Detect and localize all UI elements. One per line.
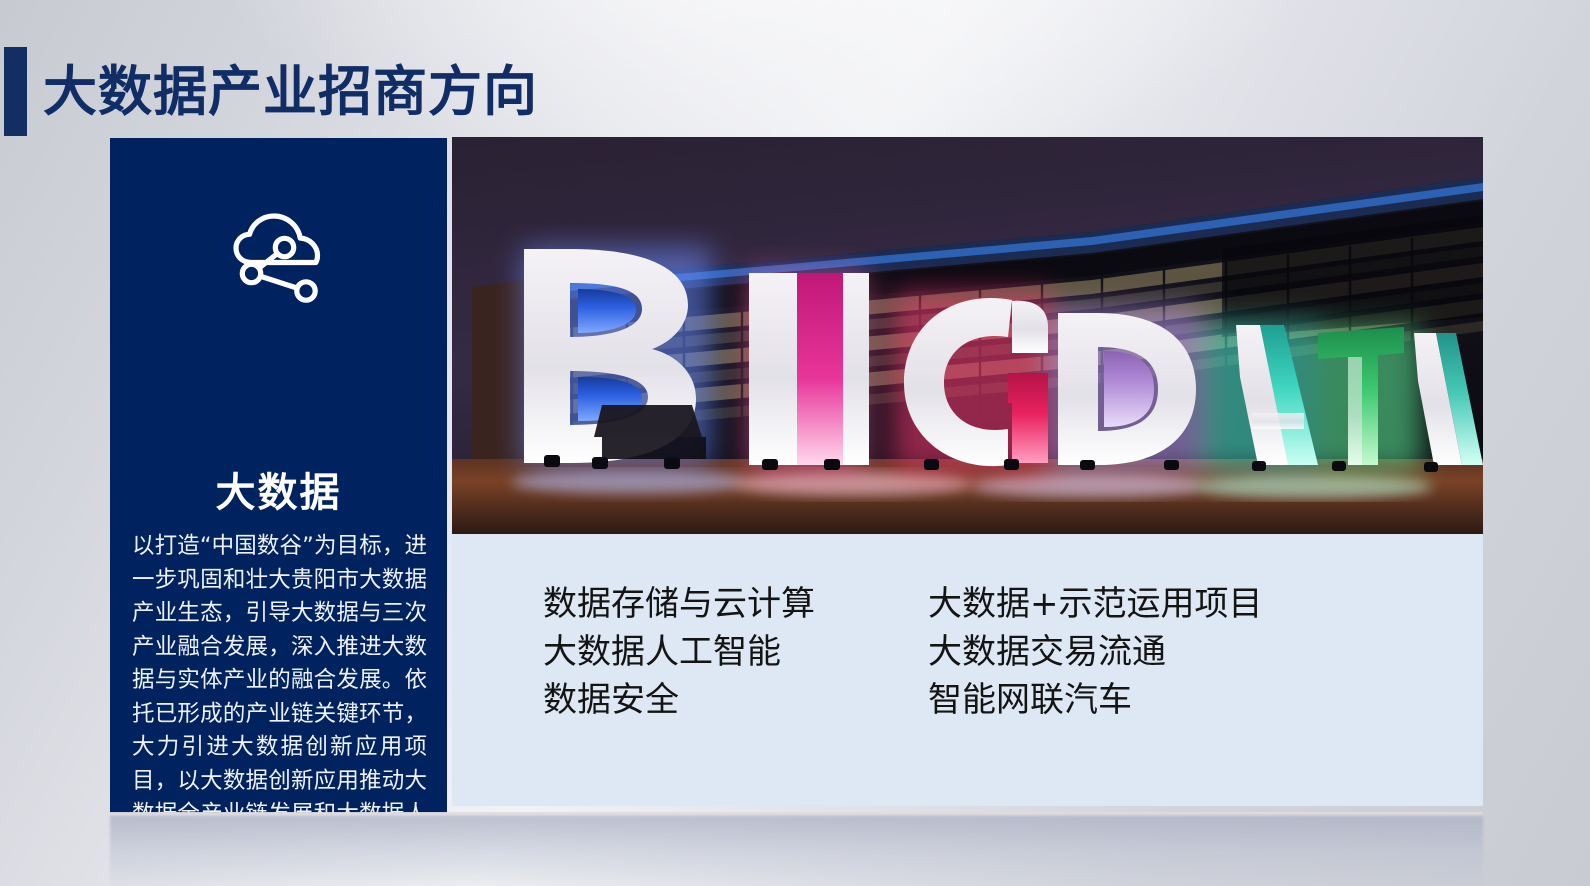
slide-header: 大数据产业招商方向	[0, 40, 1590, 140]
topic-item: 大数据交易流通	[928, 628, 1263, 676]
topics-column-right: 大数据+示范运用项目 大数据交易流通 智能网联汽车	[928, 580, 1263, 724]
topic-item: 大数据人工智能	[543, 628, 815, 676]
bigdata-night-photo	[452, 137, 1483, 534]
title-accent-bar	[4, 47, 27, 136]
page-title: 大数据产业招商方向	[43, 49, 538, 135]
card-body-text: 以打造“中国数谷”为目标，进一步巩固和壮大贵阳市大数据产业生态，引导大数据与三次…	[132, 530, 427, 813]
photo-illustration	[452, 137, 1483, 534]
topics-panel: 数据存储与云计算 大数据人工智能 数据安全 大数据+示范运用项目 大数据交易流通…	[452, 534, 1483, 806]
cloud-network-icon	[227, 204, 331, 313]
info-card: 大数据 以打造“中国数谷”为目标，进一步巩固和壮大贵阳市大数据产业生态，引导大数…	[110, 138, 447, 813]
topics-column-left: 数据存储与云计算 大数据人工智能 数据安全	[543, 580, 815, 724]
topic-item: 大数据+示范运用项目	[928, 580, 1263, 628]
card-heading: 大数据	[110, 460, 447, 518]
topic-item: 数据存储与云计算	[543, 580, 815, 628]
topic-item: 数据安全	[543, 676, 815, 724]
slide-reflection	[110, 816, 1483, 886]
topic-item: 智能网联汽车	[928, 676, 1263, 724]
